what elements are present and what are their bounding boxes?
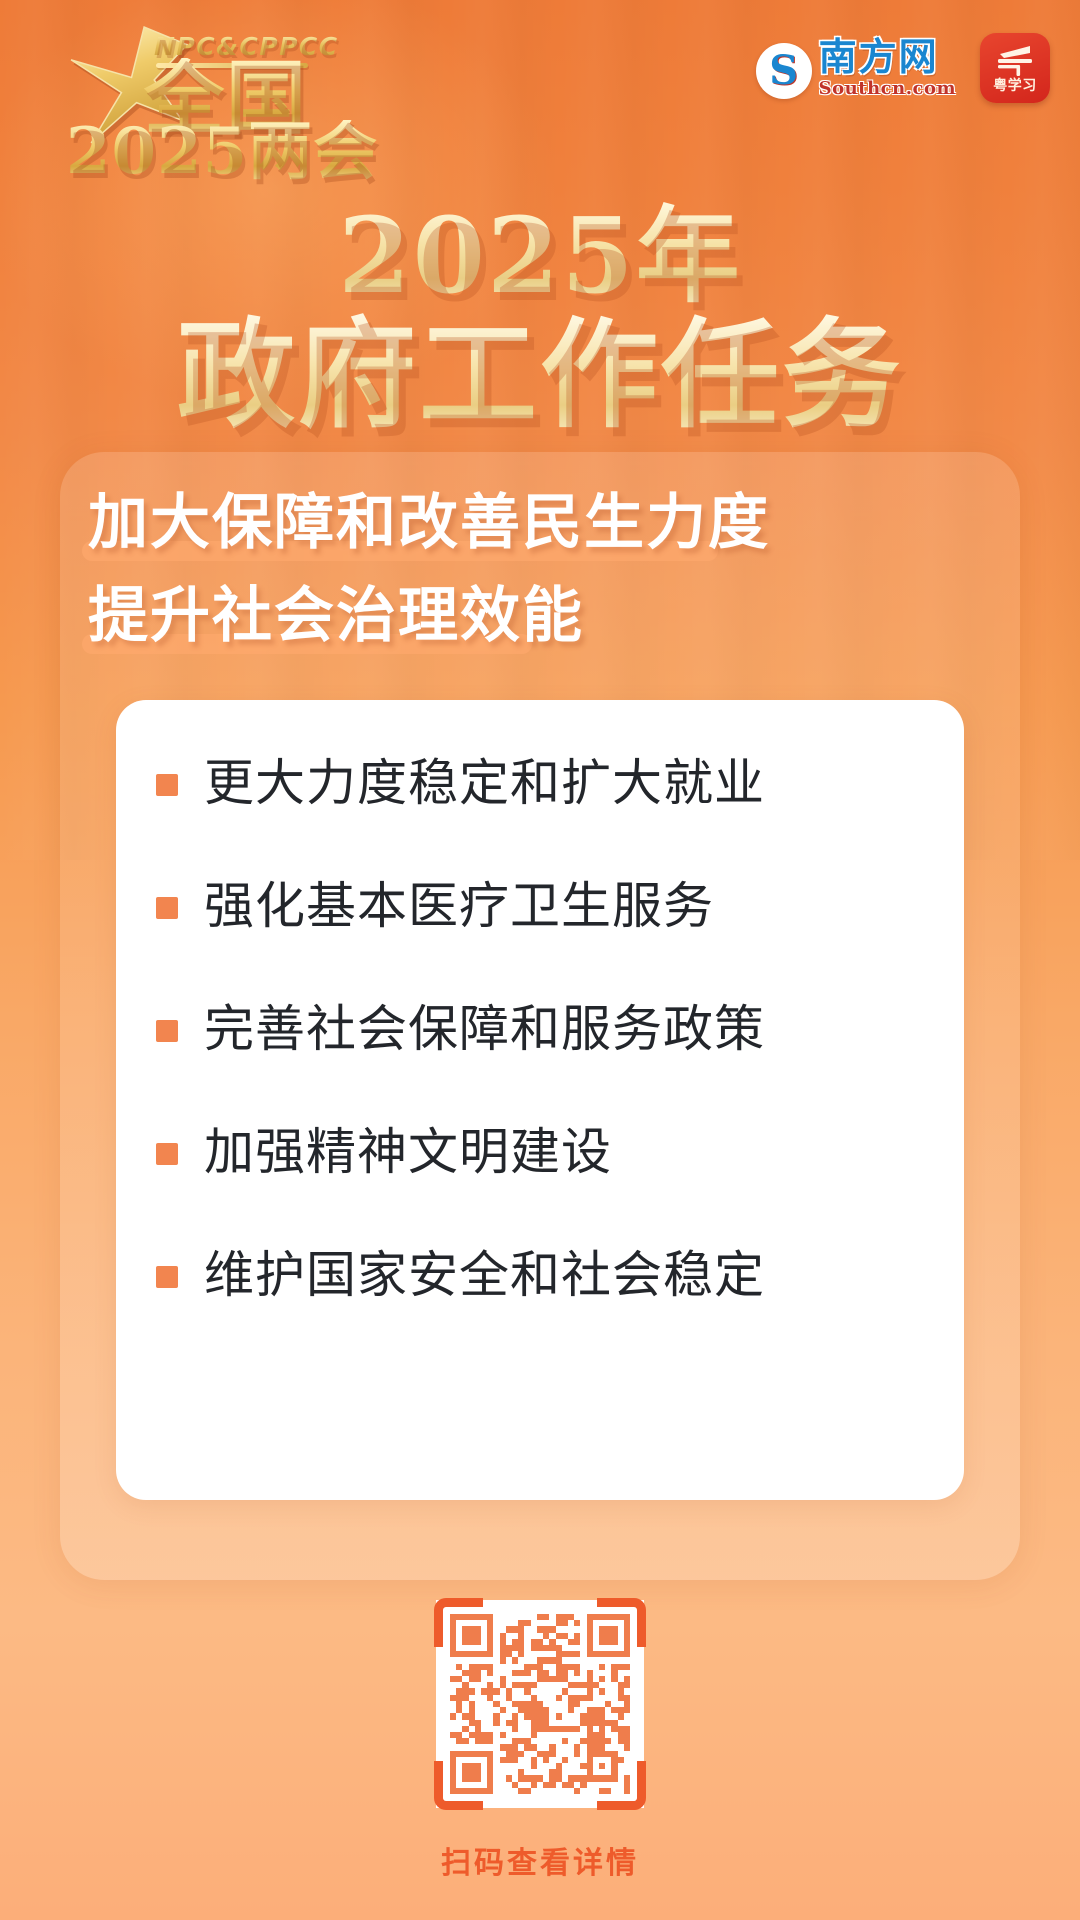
headline-text-1: 加大保障和改善民生力度 (88, 488, 770, 558)
southcn-mark-icon: S (756, 43, 812, 99)
yuexuexi-app-icon[interactable]: 粤学习 (980, 33, 1050, 103)
list-item: 完善社会保障和服务政策 (156, 1000, 924, 1059)
task-list-card: 更大力度稳定和扩大就业 强化基本医疗卫生服务 完善社会保障和服务政策 加强精神文… (116, 700, 964, 1500)
list-item: 加强精神文明建设 (156, 1123, 924, 1182)
headline-text-2: 提升社会治理效能 (88, 581, 584, 651)
bullet-square-icon (156, 1143, 178, 1165)
poster-title: 2025年 政府工作任务 (0, 200, 1080, 443)
bullet-square-icon (156, 897, 178, 919)
logo-cn-line-2: 2025两会 (66, 120, 378, 184)
title-main: 政府工作任务 (0, 308, 1080, 443)
southcn-wordmark: 南方网 Southcn.com (819, 37, 956, 99)
list-item: 强化基本医疗卫生服务 (156, 877, 924, 936)
bullet-square-icon (156, 774, 178, 796)
list-item-label: 完善社会保障和服务政策 (204, 1000, 765, 1059)
list-item-label: 强化基本医疗卫生服务 (204, 877, 714, 936)
bullet-square-icon (156, 1266, 178, 1288)
headline-row-1: 加大保障和改善民生力度 (88, 488, 770, 559)
radio-tower-icon (994, 42, 1036, 78)
poster-header: NPC&CPPCC 全国 2025两会 S 南方网 Southcn.com (0, 0, 1080, 200)
title-year: 2025年 (0, 200, 1080, 312)
bullet-square-icon (156, 1020, 178, 1042)
headline-row-2: 提升社会治理效能 (88, 581, 584, 652)
list-item-label: 加强精神文明建设 (204, 1123, 612, 1182)
qr-footer: 扫码查看详情 (0, 1600, 1080, 1882)
qr-corner-top-right (597, 1598, 646, 1647)
list-item: 维护国家安全和社会稳定 (156, 1246, 924, 1305)
southcn-cn-name: 南方网 (819, 37, 939, 77)
qr-code-icon[interactable] (436, 1600, 644, 1808)
qr-corner-top-left (434, 1598, 483, 1647)
qr-corner-bottom-left (434, 1761, 483, 1810)
southcn-logo[interactable]: S 南方网 Southcn.com (756, 37, 956, 99)
qr-corner-bottom-right (597, 1761, 646, 1810)
list-item-label: 更大力度稳定和扩大就业 (204, 754, 765, 813)
npc-cppcc-logo: NPC&CPPCC 全国 2025两会 (26, 10, 366, 190)
content-panel: 加大保障和改善民生力度 提升社会治理效能 更大力度稳定和扩大就业 强化基本医疗卫… (60, 452, 1020, 1580)
southcn-mark-glyph: S (769, 51, 798, 91)
southcn-domain: Southcn.com (819, 78, 956, 99)
panel-headline: 加大保障和改善民生力度 提升社会治理效能 (88, 488, 988, 674)
qr-caption: 扫码查看详情 (0, 1838, 1080, 1882)
list-item-label: 维护国家安全和社会稳定 (204, 1246, 765, 1305)
poster-root: NPC&CPPCC 全国 2025两会 S 南方网 Southcn.com (0, 0, 1080, 1920)
yuexuexi-app-label: 粤学习 (980, 75, 1050, 95)
brand-logos: S 南方网 Southcn.com 粤学习 (756, 28, 1050, 108)
list-item: 更大力度稳定和扩大就业 (156, 754, 924, 813)
